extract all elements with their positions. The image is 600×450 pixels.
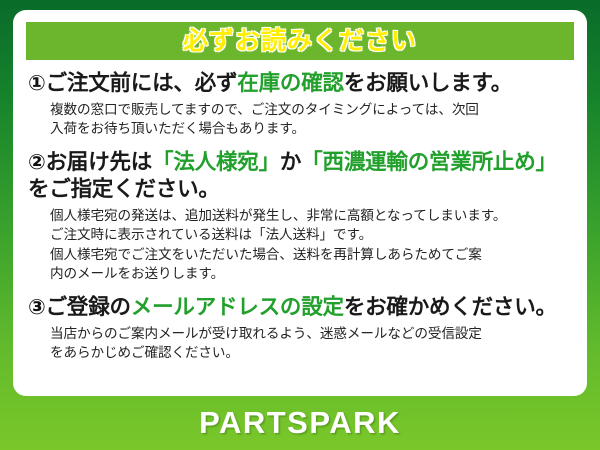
item-heading-highlight: 「法人様宛」 <box>152 150 280 174</box>
item-heading: ①ご注文前には、必ず在庫の確認をお願いします。 <box>28 71 572 97</box>
item-body: 複数の窓口で販売してますので、ご注文のタイミングによっては、次回 入荷をお待ち頂… <box>50 100 572 139</box>
item-heading-segment: ご注文前には、必ず <box>46 71 238 95</box>
notice-banner: 必ずお読みください ①ご注文前には、必ず在庫の確認をお願いします。 複数の窓口で… <box>0 0 600 450</box>
list-item: ③ご登録のメールアドレスの設定をお確かめください。 当店からのご案内メールが受け… <box>28 295 572 362</box>
item-heading-highlight: 「西濃運輸の営業所止め」 <box>301 150 557 174</box>
item-body-line: 個人様宅宛の発送は、追加送料が発生し、非常に高額となってしまいます。 <box>50 206 572 225</box>
footer: PARTSPARK <box>0 396 600 450</box>
notice-items-list: ①ご注文前には、必ず在庫の確認をお願いします。 複数の窓口で販売してますので、ご… <box>26 71 574 363</box>
item-heading-highlight: 在庫の確認 <box>237 71 344 95</box>
item-body-line: 入荷をお待ち頂いただく場合もあります。 <box>50 119 572 138</box>
item-heading: ③ご登録のメールアドレスの設定をお確かめください。 <box>28 295 572 321</box>
item-heading: ②お届け先は「法人様宛」か「西濃運輸の営業所止め」をご指定ください。 <box>28 149 572 202</box>
item-marker: ① <box>28 72 46 95</box>
item-body: 当店からのご案内メールが受け取れるよう、迷惑メールなどの受信設定 をあらかじめご… <box>50 324 572 363</box>
item-body: 個人様宅宛の発送は、追加送料が発生し、非常に高額となってしまいます。 ご注文時に… <box>50 206 572 283</box>
item-body-line: 複数の窓口で販売してますので、ご注文のタイミングによっては、次回 <box>50 100 572 119</box>
header-bar: 必ずお読みください <box>26 22 574 60</box>
item-heading-segment: か <box>280 150 301 174</box>
page-title: 必ずお読みください <box>183 29 417 54</box>
notice-card: 必ずお読みください ①ご注文前には、必ず在庫の確認をお願いします。 複数の窓口で… <box>13 10 587 396</box>
item-heading-segment: をお願いします。 <box>344 71 512 95</box>
item-body-line: をあらかじめご確認ください。 <box>50 343 572 362</box>
list-item: ②お届け先は「法人様宛」か「西濃運輸の営業所止め」をご指定ください。 個人様宅宛… <box>28 149 572 283</box>
item-body-line: 内のメールをお送りします。 <box>50 264 572 283</box>
item-body-line: 個人様宅宛でご注文をいただいた場合、送料を再計算しあらためてご案 <box>50 245 572 264</box>
brand-logo: PARTSPARK <box>199 405 401 441</box>
item-marker: ② <box>28 151 46 174</box>
item-body-line: ご注文時に表示されている送料は「法人送料」です。 <box>50 225 572 244</box>
item-heading-segment: ご登録の <box>46 295 131 319</box>
item-heading-segment: をご指定ください。 <box>28 177 220 201</box>
item-heading-highlight: メールアドレスの設定 <box>131 295 344 319</box>
item-heading-segment: をお確かめください。 <box>344 295 557 319</box>
item-heading-segment: お届け先は <box>46 150 153 174</box>
item-body-line: 当店からのご案内メールが受け取れるよう、迷惑メールなどの受信設定 <box>50 324 572 343</box>
item-marker: ③ <box>28 296 46 319</box>
list-item: ①ご注文前には、必ず在庫の確認をお願いします。 複数の窓口で販売してますので、ご… <box>28 71 572 138</box>
